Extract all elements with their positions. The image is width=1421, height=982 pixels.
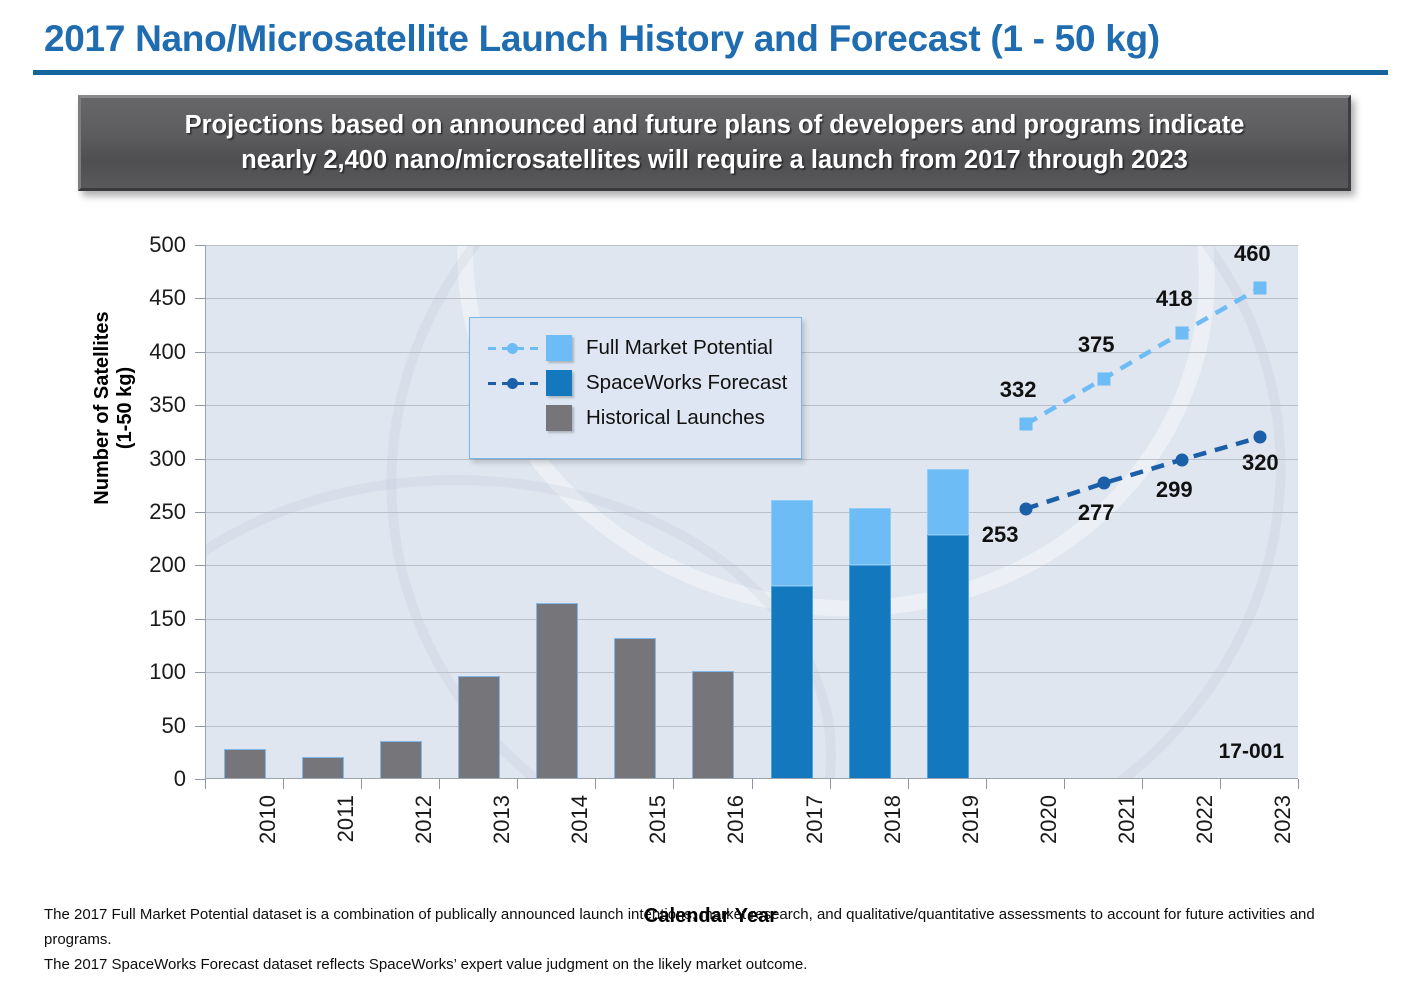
footnote-line-1: The 2017 Full Market Potential dataset i… (44, 903, 1384, 953)
x-axis-tick-label: 2021 (1114, 795, 1140, 844)
x-axis-tick (439, 779, 440, 789)
legend-label-historical-launches: Historical Launches (586, 406, 765, 430)
x-axis-tick (1298, 779, 1299, 789)
chart-code-label: 17-001 (1219, 740, 1284, 764)
plot-area: 332375418460253277299320 17-001 Full Mar… (205, 245, 1298, 779)
x-axis-tick-label: 2019 (958, 795, 984, 844)
y-axis-tick (195, 779, 205, 780)
data-point-full-market-potential-2023 (1253, 281, 1266, 294)
legend-label-full-market-potential: Full Market Potential (586, 336, 773, 360)
forecast-line-spaceworks-forecast (1026, 437, 1260, 509)
legend-item-historical-launches[interactable]: Historical Launches (488, 401, 801, 435)
chart-container: Number of Satellites (1-50 kg) 050100150… (0, 215, 1421, 875)
data-point-spaceworks-forecast-2022 (1175, 453, 1188, 466)
legend-line-marker-spaceworks-forecast (488, 377, 540, 389)
data-label-full-market-potential-2023: 460 (1234, 245, 1271, 267)
x-axis-tick (908, 779, 909, 789)
data-point-full-market-potential-2020 (1019, 418, 1032, 431)
x-axis-tick (361, 779, 362, 789)
legend-line-marker-full-market-potential (488, 342, 540, 354)
y-axis-tick-label: 350 (149, 392, 186, 418)
data-label-spaceworks-forecast-2020: 253 (982, 522, 1019, 548)
x-axis-tick-label: 2012 (411, 795, 437, 844)
y-axis-tick (195, 459, 205, 460)
x-axis-tick-label: 2018 (880, 795, 906, 844)
legend-line-marker-historical-launches (488, 412, 540, 424)
y-axis-tick (195, 565, 205, 566)
slide-root: 2017 Nano/Microsatellite Launch History … (0, 0, 1421, 982)
data-point-spaceworks-forecast-2021 (1097, 477, 1110, 490)
data-label-spaceworks-forecast-2021: 277 (1078, 500, 1115, 526)
x-axis-tick-label: 2011 (333, 795, 359, 842)
title-underline-rule (33, 70, 1388, 75)
x-axis-tick-label: 2014 (567, 795, 593, 844)
banner-text: Projections based on announced and futur… (171, 108, 1259, 178)
page-title: 2017 Nano/Microsatellite Launch History … (44, 18, 1384, 60)
y-axis-tick (195, 352, 205, 353)
x-axis-tick-label: 2017 (802, 795, 828, 844)
y-axis-tick-label: 250 (149, 499, 186, 525)
data-label-full-market-potential-2020: 332 (1000, 377, 1037, 403)
y-axis-tick-label: 450 (149, 285, 186, 311)
y-axis-tick-label: 500 (149, 232, 186, 258)
forecast-line-full-market-potential (1026, 288, 1260, 425)
banner-line-1: Projections based on announced and futur… (185, 111, 1245, 139)
y-axis-tick-label: 0 (174, 766, 186, 792)
y-axis-tick-label: 300 (149, 446, 186, 472)
chart-legend[interactable]: Full Market Potential SpaceWorks Forecas… (469, 317, 802, 459)
y-axis-tick (195, 245, 205, 246)
x-axis-tick-label: 2015 (645, 795, 671, 844)
y-axis-tick (195, 405, 205, 406)
data-point-full-market-potential-2022 (1175, 326, 1188, 339)
x-axis-tick-label: 2010 (255, 795, 281, 844)
data-point-full-market-potential-2021 (1097, 372, 1110, 385)
key-message-banner: Projections based on announced and futur… (78, 95, 1351, 191)
y-axis-tick-label: 200 (149, 552, 186, 578)
legend-swatch-full-market-potential (546, 335, 572, 361)
y-axis-tick (195, 619, 205, 620)
x-axis-tick-label: 2020 (1036, 795, 1062, 844)
x-axis-tick (595, 779, 596, 789)
y-axis-tick (195, 512, 205, 513)
legend-item-full-market-potential[interactable]: Full Market Potential (488, 331, 801, 365)
x-axis-tick (752, 779, 753, 789)
data-label-spaceworks-forecast-2023: 320 (1242, 450, 1279, 476)
y-axis-title-line-1: Number of Satellites (91, 311, 113, 504)
x-axis-tick (673, 779, 674, 789)
y-axis-tick (195, 672, 205, 673)
data-label-spaceworks-forecast-2022: 299 (1156, 477, 1193, 503)
x-axis-tick-label: 2013 (489, 795, 515, 844)
x-axis-tick (283, 779, 284, 789)
data-point-spaceworks-forecast-2020 (1019, 502, 1032, 515)
x-axis-tick (830, 779, 831, 789)
footnote-line-2: The 2017 SpaceWorks Forecast dataset ref… (44, 953, 1384, 978)
y-axis-tick-label: 400 (149, 339, 186, 365)
x-axis-tick-label: 2023 (1270, 795, 1296, 844)
y-axis-tick-label: 100 (149, 659, 186, 685)
x-axis-tick (205, 779, 206, 789)
y-axis-tick-label: 50 (162, 713, 186, 739)
y-axis-title-line-2: (1-50 kg) (114, 367, 136, 449)
legend-item-spaceworks-forecast[interactable]: SpaceWorks Forecast (488, 366, 801, 400)
banner-line-2: nearly 2,400 nano/microsatellites will r… (241, 146, 1188, 174)
x-axis-tick (986, 779, 987, 789)
data-label-full-market-potential-2021: 375 (1078, 332, 1115, 358)
x-axis-tick (1220, 779, 1221, 789)
x-axis-tick-label: 2022 (1192, 795, 1218, 844)
y-axis-tick-label: 150 (149, 606, 186, 632)
y-axis-tick (195, 298, 205, 299)
legend-swatch-spaceworks-forecast (546, 370, 572, 396)
legend-swatch-historical-launches (546, 405, 572, 431)
data-point-spaceworks-forecast-2023 (1253, 431, 1266, 444)
x-axis-tick (517, 779, 518, 789)
x-axis-tick (1142, 779, 1143, 789)
x-axis-tick (1064, 779, 1065, 789)
y-axis-tick (195, 726, 205, 727)
x-axis-tick-label: 2016 (723, 795, 749, 844)
footnote: The 2017 Full Market Potential dataset i… (44, 903, 1384, 977)
y-axis-title: Number of Satellites (1-50 kg) (91, 278, 137, 538)
legend-label-spaceworks-forecast: SpaceWorks Forecast (586, 371, 787, 395)
data-label-full-market-potential-2022: 418 (1156, 286, 1193, 312)
